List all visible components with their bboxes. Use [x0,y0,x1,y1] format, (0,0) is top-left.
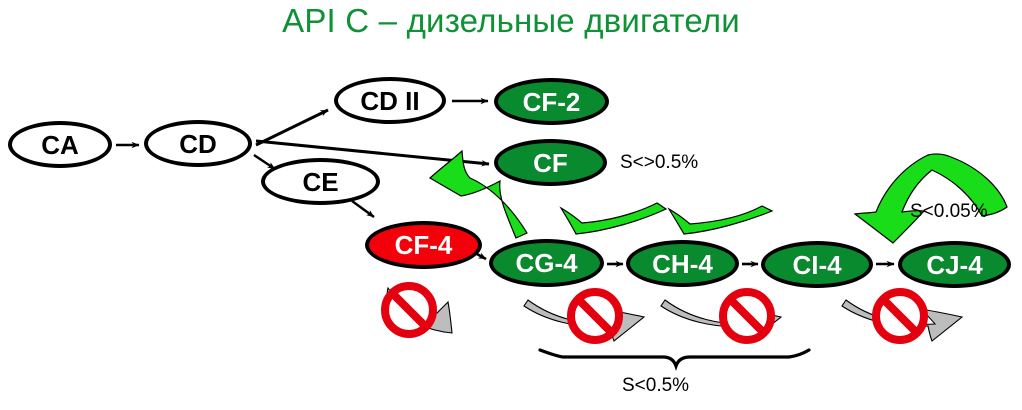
node-cf[interactable]: CF [494,139,607,186]
connector-ce-to-cf4 [352,201,374,217]
node-label: CF-2 [523,89,581,115]
prohibition-icon-1 [385,286,433,334]
prohibition-signs [385,286,924,340]
green-arrow-cg-ch [561,203,666,234]
brace-group [540,350,809,366]
node-cf4[interactable]: CF-4 [365,221,482,269]
node-label: CD [179,131,217,157]
label-s-brace: S<0.5% [622,375,689,397]
node-label: CF [533,150,568,176]
node-label: CI-4 [792,252,841,278]
green-arrow-to-ci [855,154,1007,243]
node-ca[interactable]: CA [8,121,112,168]
prohibition-icon-3 [723,292,771,340]
node-label: CG-4 [515,250,577,276]
prohibition-icon-2 [571,292,619,340]
node-cd[interactable]: CD [144,120,252,167]
node-label: CJ-4 [926,252,982,278]
label-s-between: S<>0.5% [620,152,698,174]
node-cdii[interactable]: CD II [334,77,446,124]
green-arrow-ch-ci [669,206,772,234]
node-ch4[interactable]: CH-4 [626,240,739,287]
node-label: CA [41,132,79,158]
node-label: CD II [360,88,419,114]
node-label: CH-4 [652,251,713,277]
node-label: CF-4 [395,232,453,258]
connector-cd-to-cdii [256,110,328,145]
node-cj4[interactable]: CJ-4 [898,241,1011,288]
node-cf2[interactable]: CF-2 [494,78,609,125]
node-ce[interactable]: CE [261,158,380,205]
diagram-canvas [0,0,1022,410]
label-s-low: S<0.05% [910,201,988,223]
node-label: CE [302,169,338,195]
node-cg4[interactable]: CG-4 [489,239,604,287]
curly-brace [540,350,809,366]
node-ci4[interactable]: CI-4 [761,241,873,288]
prohibition-icon-4 [876,292,924,340]
